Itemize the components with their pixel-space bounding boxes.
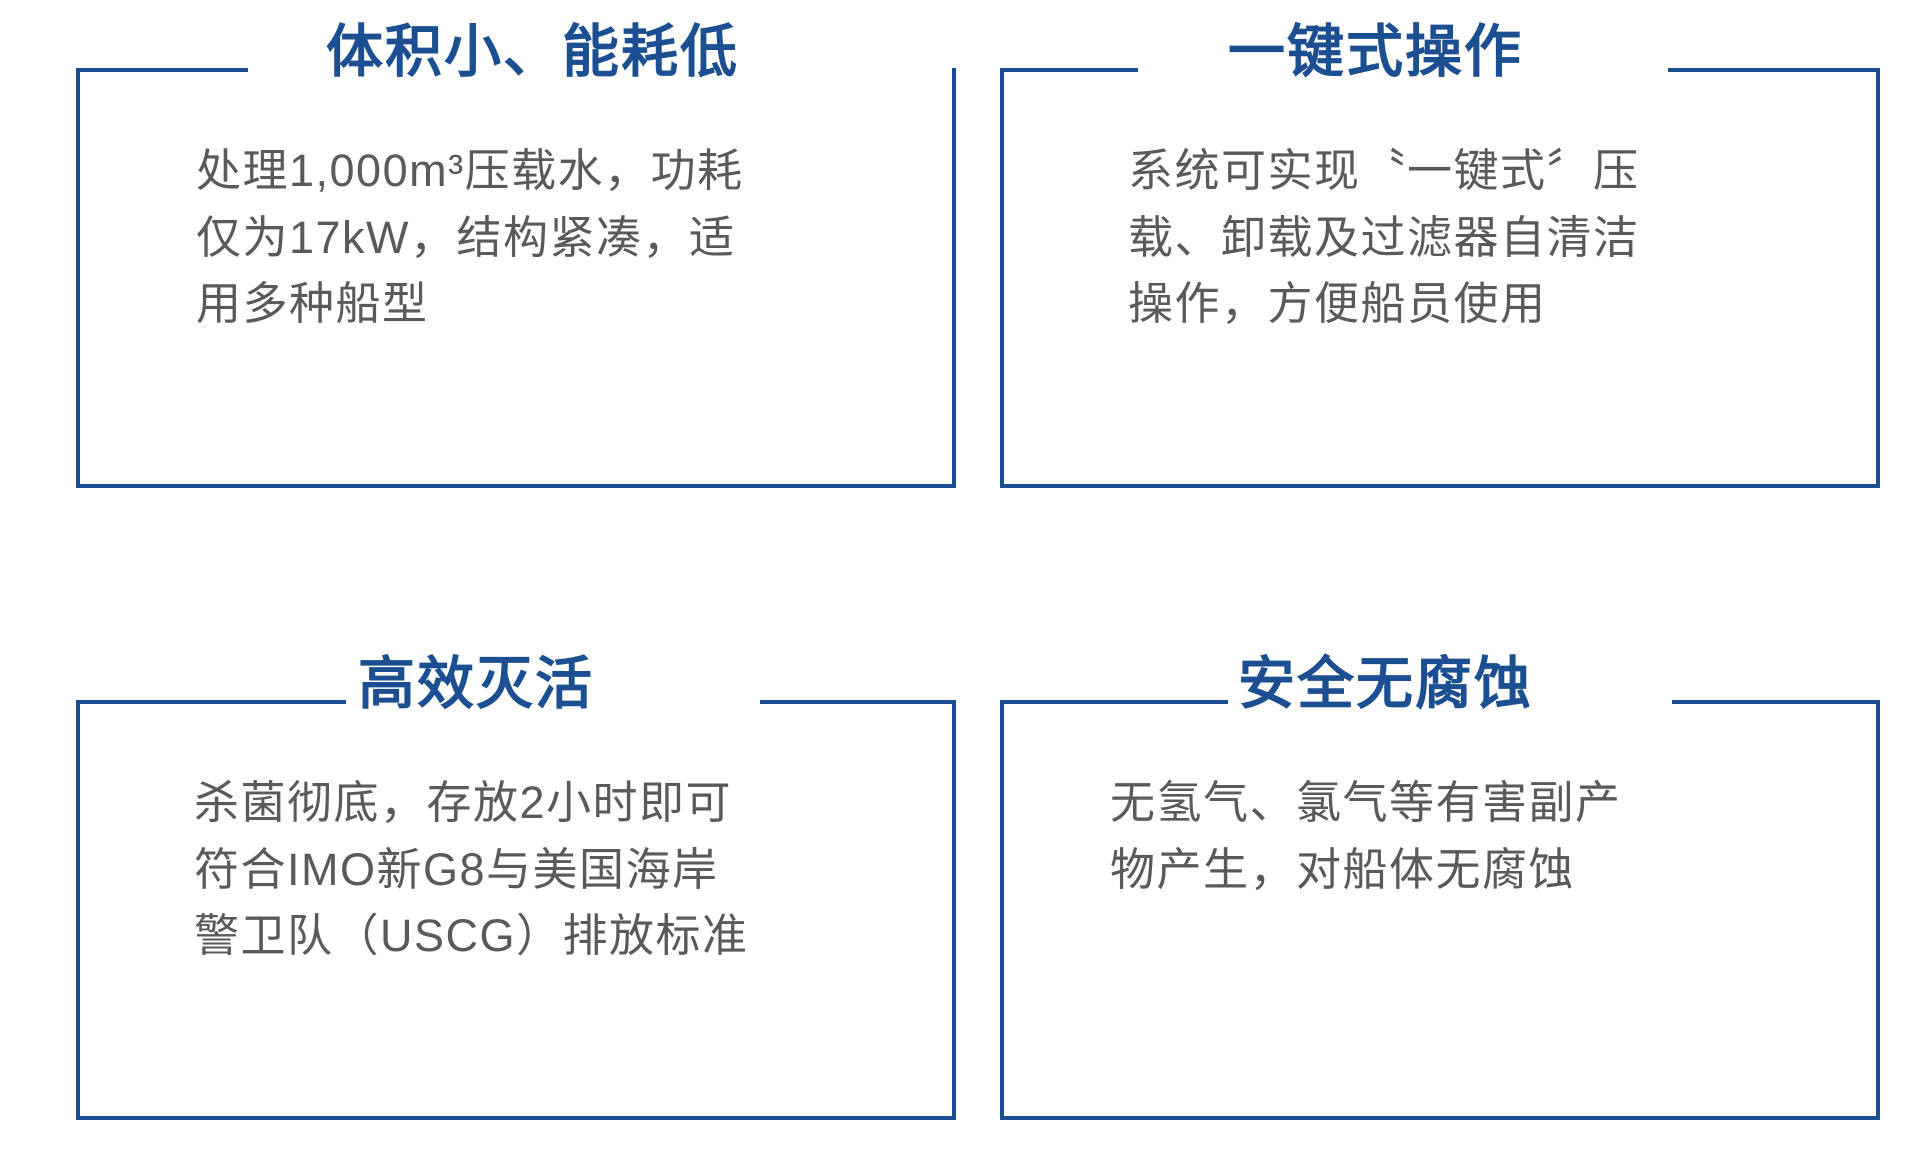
- feature-card-volume-power: 体积小、能耗低 处理1,000m³压载水，功耗 仅为17kW，结构紧凑，适 用多…: [76, 68, 956, 488]
- card-frame-left: [76, 700, 80, 1120]
- feature-card-safe-non-corrosive: 安全无腐蚀 无氢气、氯气等有害副产 物产生，对船体无腐蚀: [1000, 700, 1880, 1120]
- feature-card-one-key-operation: 一键式操作 系统可实现〝一键式〞压 载、卸载及过滤器自清洁 操作，方便船员使用: [1000, 68, 1880, 488]
- card-frame-left: [76, 68, 80, 488]
- card-frame-top-segment-left: [1000, 68, 1138, 72]
- card-frame-bottom: [1000, 484, 1880, 488]
- feature-grid: 体积小、能耗低 处理1,000m³压载水，功耗 仅为17kW，结构紧凑，适 用多…: [0, 0, 1920, 1160]
- feature-card-high-efficiency-inactivation: 高效灭活 杀菌彻底，存放2小时即可 符合IMO新G8与美国海岸 警卫队（USCG…: [76, 700, 956, 1120]
- card-frame-top-segment-right: [1672, 700, 1880, 704]
- card-title: 安全无腐蚀: [1238, 656, 1533, 713]
- card-frame-top-segment-left: [1000, 700, 1228, 704]
- card-frame-top-segment-right: [760, 700, 956, 704]
- card-body-text: 处理1,000m³压载水，功耗 仅为17kW，结构紧凑，适 用多种船型: [196, 138, 744, 338]
- card-frame-right: [952, 68, 956, 488]
- card-title: 一键式操作: [1228, 24, 1523, 81]
- card-frame-right: [952, 700, 956, 1120]
- card-frame-left: [1000, 700, 1004, 1120]
- card-frame-right: [1876, 700, 1880, 1120]
- card-title: 体积小、能耗低: [326, 24, 739, 81]
- card-frame-top-segment-right: [1668, 68, 1880, 72]
- card-body-text: 系统可实现〝一键式〞压 载、卸载及过滤器自清洁 操作，方便船员使用: [1128, 138, 1640, 338]
- card-frame-left: [1000, 68, 1004, 488]
- card-body-text: 无氢气、氯气等有害副产 物产生，对船体无腐蚀: [1110, 770, 1622, 903]
- card-frame-bottom: [76, 1116, 956, 1120]
- card-frame-bottom: [1000, 1116, 1880, 1120]
- card-body-text: 杀菌彻底，存放2小时即可 符合IMO新G8与美国海岸 警卫队（USCG）排放标准: [194, 770, 749, 970]
- card-title: 高效灭活: [358, 656, 594, 713]
- card-frame-bottom: [76, 484, 956, 488]
- card-frame-top-segment-left: [76, 700, 346, 704]
- card-frame-top-segment: [76, 68, 248, 72]
- card-frame-right: [1876, 68, 1880, 488]
